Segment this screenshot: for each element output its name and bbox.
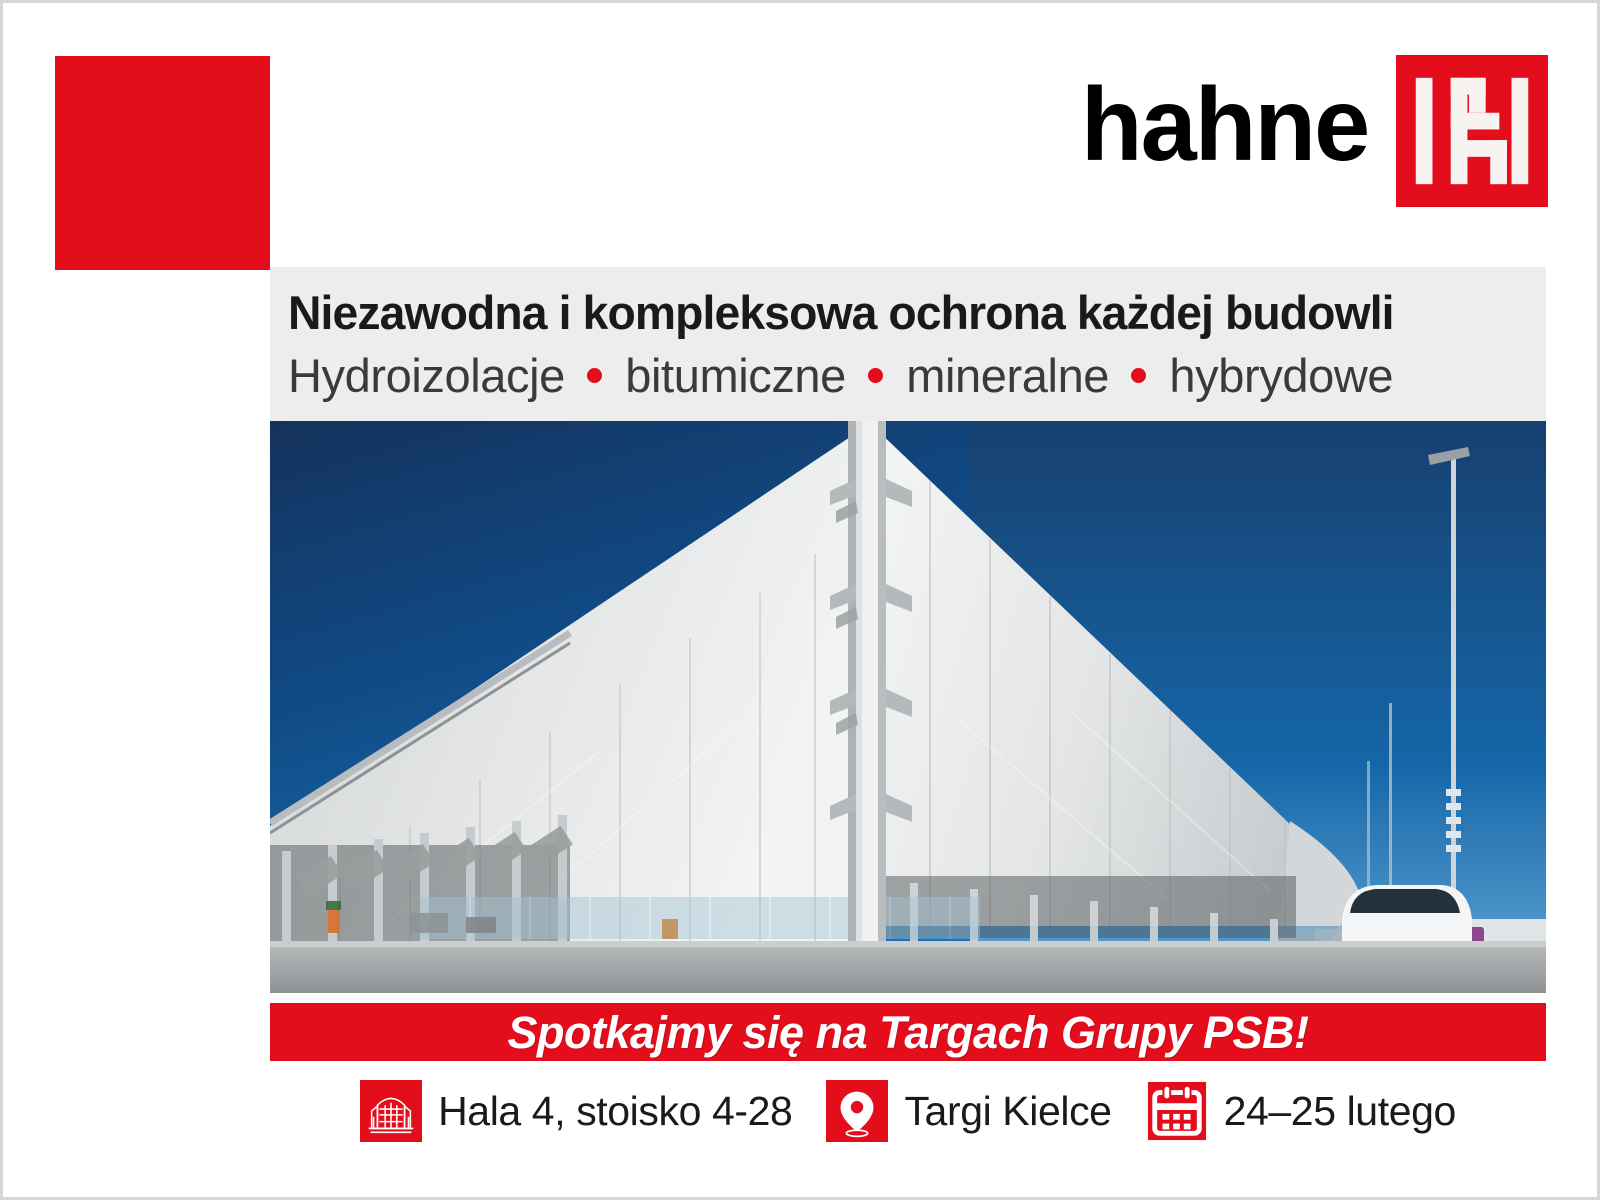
headline-primary: Niezawodna i kompleksowa ochrona każdej … — [288, 283, 1527, 343]
headline-sub-part-1: bitumiczne — [625, 349, 846, 402]
cta-banner-text: Spotkajmy się na Targach Grupy PSB! — [507, 1010, 1308, 1055]
hahne-h-logo-icon — [1396, 55, 1548, 207]
info-label-date: 24–25 lutego — [1224, 1086, 1456, 1136]
map-pin-icon — [826, 1080, 888, 1142]
headline-secondary: Hydroizolacje bitumiczne mineralne hybry… — [288, 345, 1546, 407]
headline-sub-part-3: hybrydowe — [1169, 349, 1393, 402]
info-label-venue: Targi Kielce — [904, 1086, 1111, 1136]
advertisement-poster: hahne Niezawodna i kompleksowa ochrona k… — [0, 0, 1600, 1200]
brand-logo-group: hahne — [1072, 55, 1548, 207]
bullet-dot-icon — [587, 368, 602, 383]
calendar-icon — [1146, 1080, 1208, 1142]
hero-photo-illustration — [270, 421, 1546, 993]
info-item-hall: Hala 4, stoisko 4-28 — [360, 1080, 826, 1142]
brand-wordmark: hahne — [1081, 73, 1368, 189]
event-info-row: Hala 4, stoisko 4-28 Targi Kielce — [270, 1075, 1546, 1147]
info-label-hall: Hala 4, stoisko 4-28 — [438, 1086, 792, 1136]
headline-sub-part-2: mineralne — [906, 349, 1109, 402]
headline-sub-part-0: Hydroizolacje — [288, 349, 565, 402]
info-item-date: 24–25 lutego — [1146, 1080, 1456, 1142]
exhibition-hall-icon — [360, 1080, 422, 1142]
headline-band: Niezawodna i kompleksowa ochrona każdej … — [270, 267, 1546, 421]
bullet-dot-icon — [868, 368, 883, 383]
header: hahne — [3, 3, 1597, 271]
cta-banner: Spotkajmy się na Targach Grupy PSB! — [270, 1003, 1546, 1061]
hero-photo — [270, 421, 1546, 993]
info-item-venue: Targi Kielce — [826, 1080, 1145, 1142]
bullet-dot-icon — [1131, 368, 1146, 383]
brand-red-square — [55, 56, 270, 270]
